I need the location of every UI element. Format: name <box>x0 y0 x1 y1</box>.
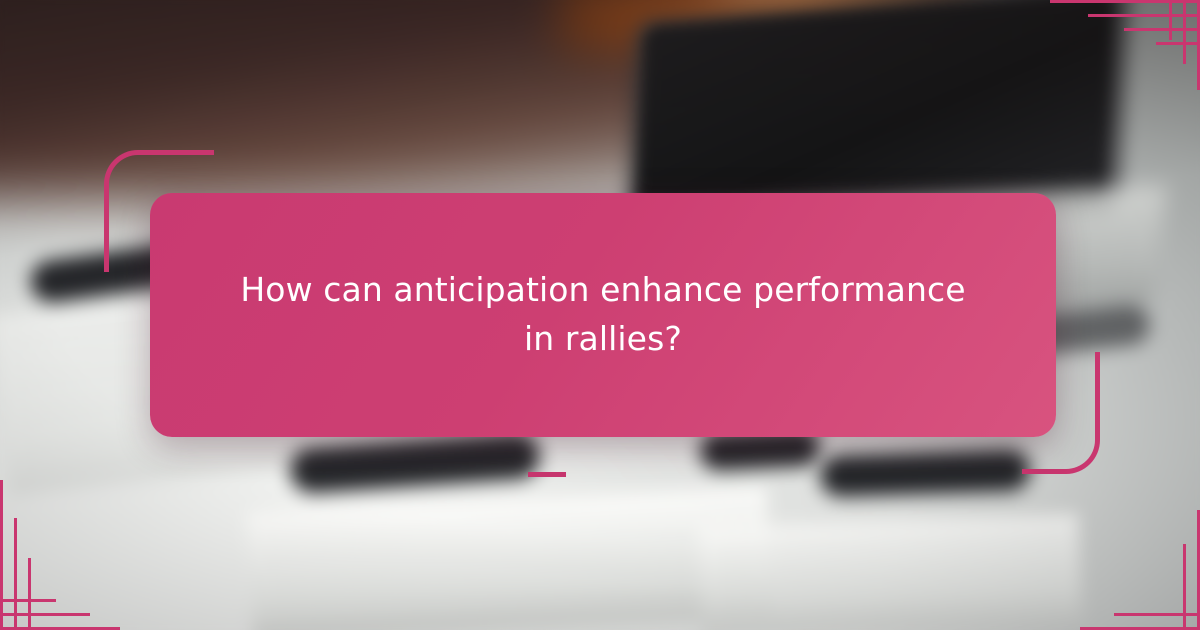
share-card-canvas: How can anticipation enhance performance… <box>0 0 1200 630</box>
line-cluster-bottom-left <box>0 480 120 630</box>
question-card: How can anticipation enhance performance… <box>150 193 1056 437</box>
question-text: How can anticipation enhance performance… <box>223 266 983 364</box>
dashed-line-top <box>176 150 676 155</box>
line-cluster-bottom-right <box>1080 510 1200 630</box>
dashed-line-bottom <box>528 472 1028 477</box>
line-cluster-top-right <box>1050 0 1200 90</box>
